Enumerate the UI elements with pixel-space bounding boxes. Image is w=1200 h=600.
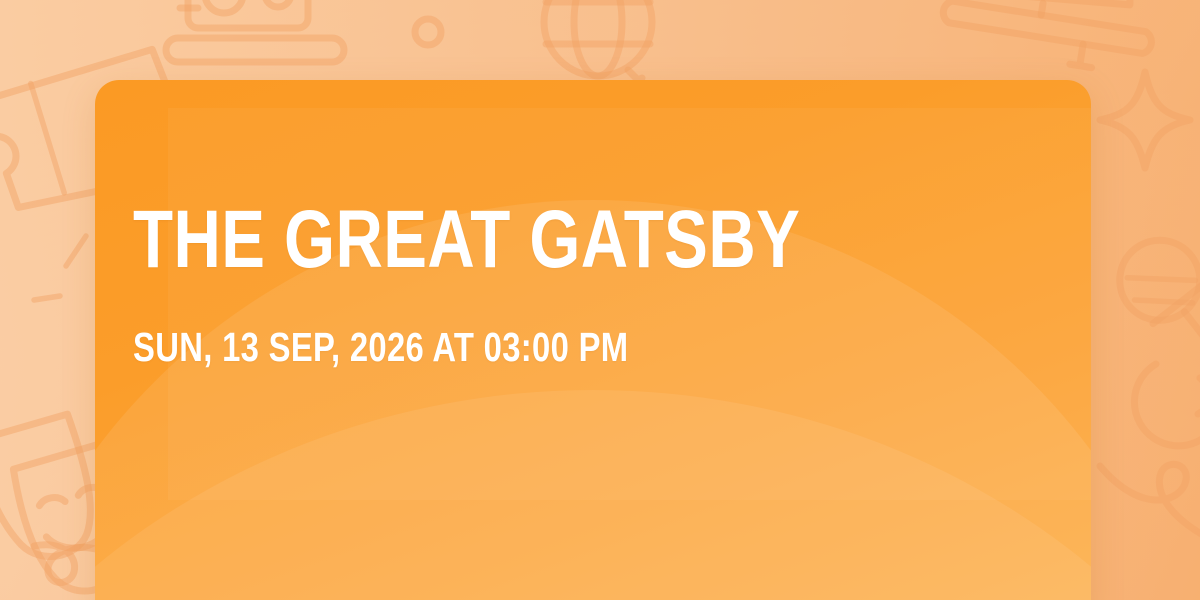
event-title: THE GREAT GATSBY [133,198,867,282]
card-wedge-shape [95,390,1091,600]
event-card[interactable]: THE GREAT GATSBY SUN, 13 SEP, 2026 AT 03… [95,80,1091,600]
event-banner: THE GREAT GATSBY SUN, 13 SEP, 2026 AT 03… [0,0,1200,600]
card-content: THE GREAT GATSBY SUN, 13 SEP, 2026 AT 03… [133,198,1051,369]
event-datetime: SUN, 13 SEP, 2026 AT 03:00 PM [133,326,867,369]
